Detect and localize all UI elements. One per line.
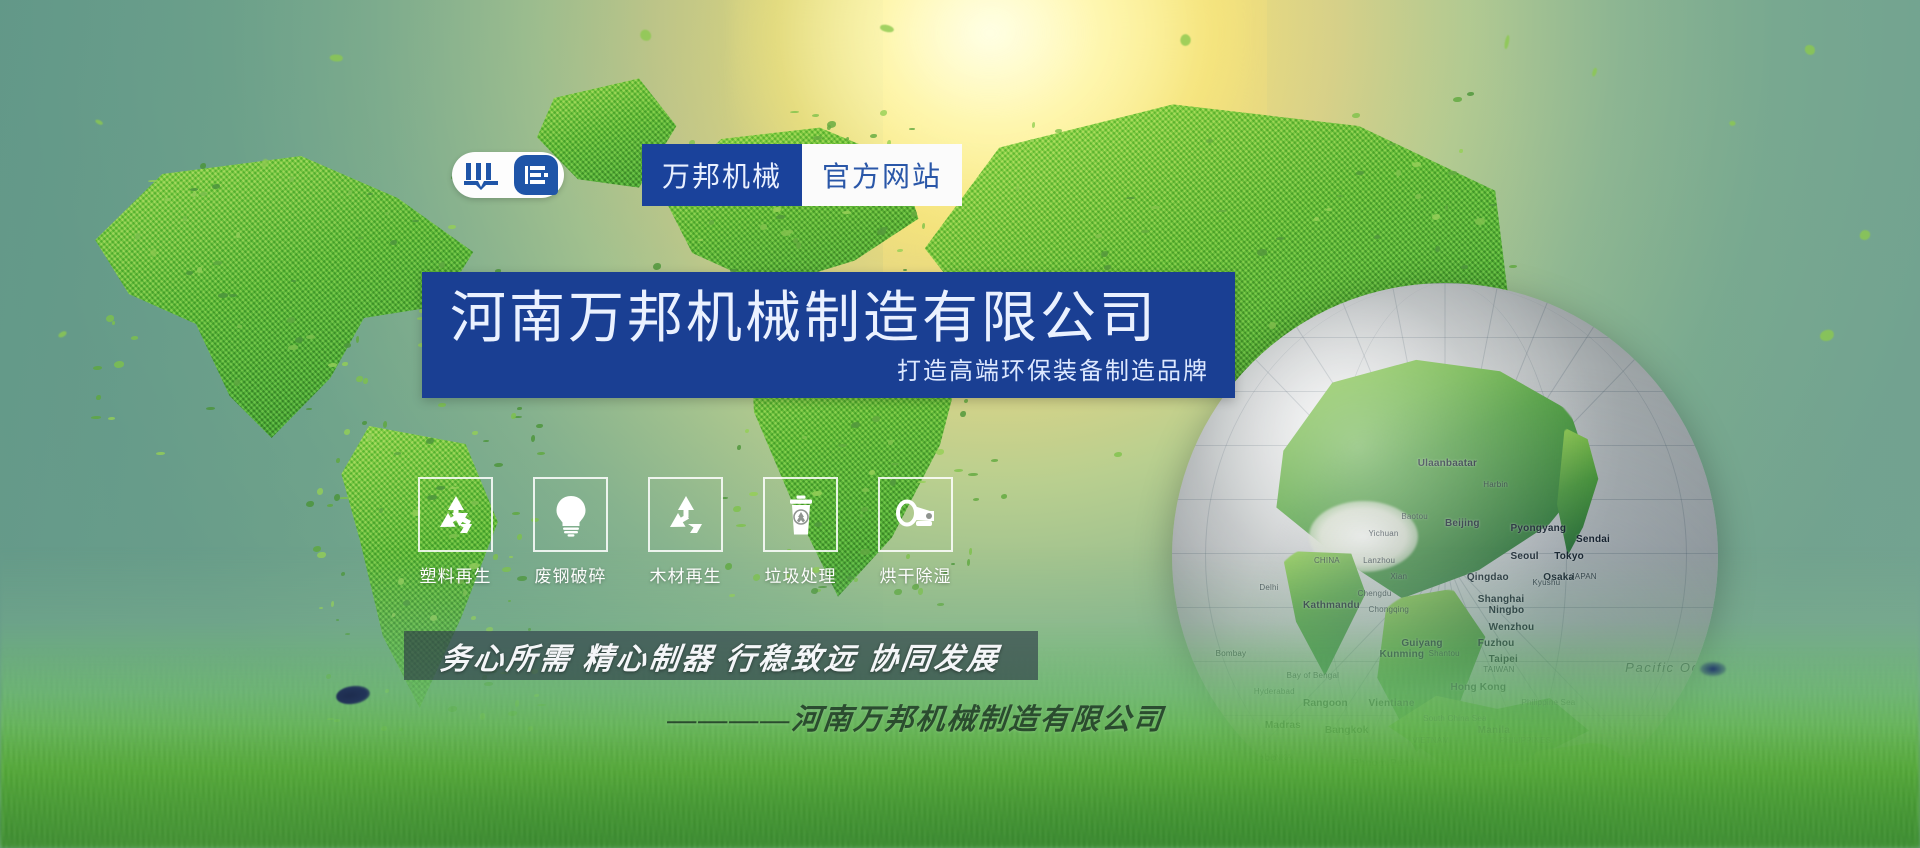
- blower-icon: [894, 493, 938, 537]
- logo[interactable]: [452, 152, 564, 198]
- feature-icon-box: [418, 477, 493, 552]
- feature-icon-row: 塑料再生 废钢破碎 木材再生: [418, 477, 953, 587]
- feature-label: 垃圾处理: [765, 562, 837, 587]
- slogan-attribution: ————河南万邦机械制造有限公司: [666, 696, 1166, 738]
- feature-item-wood-recycling[interactable]: 木材再生: [648, 477, 723, 587]
- feature-icon-box: [763, 477, 838, 552]
- official-site-label[interactable]: 官方网站: [802, 144, 962, 206]
- brand-bar: 万邦机械 官方网站: [642, 144, 962, 206]
- feature-item-scrap-steel-crushing[interactable]: 废钢破碎: [533, 477, 608, 587]
- feature-label: 废钢破碎: [535, 562, 607, 587]
- feature-item-drying-dehumidifying[interactable]: 烘干除湿: [878, 477, 953, 587]
- company-subtitle: 打造高端环保装备制造品牌: [897, 351, 1209, 386]
- recycle-icon: [434, 493, 478, 537]
- slogan-text: 务心所需 精心制器 行稳致远 协同发展: [439, 634, 1004, 678]
- feature-icon-box: [648, 477, 723, 552]
- logo-w-icon: [462, 160, 502, 190]
- feature-icon-box: [878, 477, 953, 552]
- logo-b-icon: [514, 155, 558, 195]
- feature-label: 木材再生: [650, 562, 722, 587]
- recycle-icon: [664, 493, 708, 537]
- brand-name-label[interactable]: 万邦机械: [642, 144, 802, 206]
- slogan-bar: 务心所需 精心制器 行稳致远 协同发展: [404, 631, 1038, 680]
- feature-label: 烘干除湿: [880, 562, 952, 587]
- feature-icon-box: [533, 477, 608, 552]
- feature-label: 塑料再生: [420, 562, 492, 587]
- company-title: 河南万邦机械制造有限公司: [450, 290, 1158, 346]
- grass-shadow: [0, 728, 1920, 848]
- trash-bin-icon: [779, 493, 823, 537]
- feature-item-plastic-recycling[interactable]: 塑料再生: [418, 477, 493, 587]
- title-banner: 河南万邦机械制造有限公司 打造高端环保装备制造品牌: [422, 272, 1235, 398]
- hero-banner: UlaanbaatarBeijingPyongyangSeoulTokyoSen…: [0, 0, 1920, 848]
- feature-item-waste-treatment[interactable]: 垃圾处理: [763, 477, 838, 587]
- lightbulb-icon: [549, 493, 593, 537]
- insect-silhouette-secondary: [1700, 662, 1726, 676]
